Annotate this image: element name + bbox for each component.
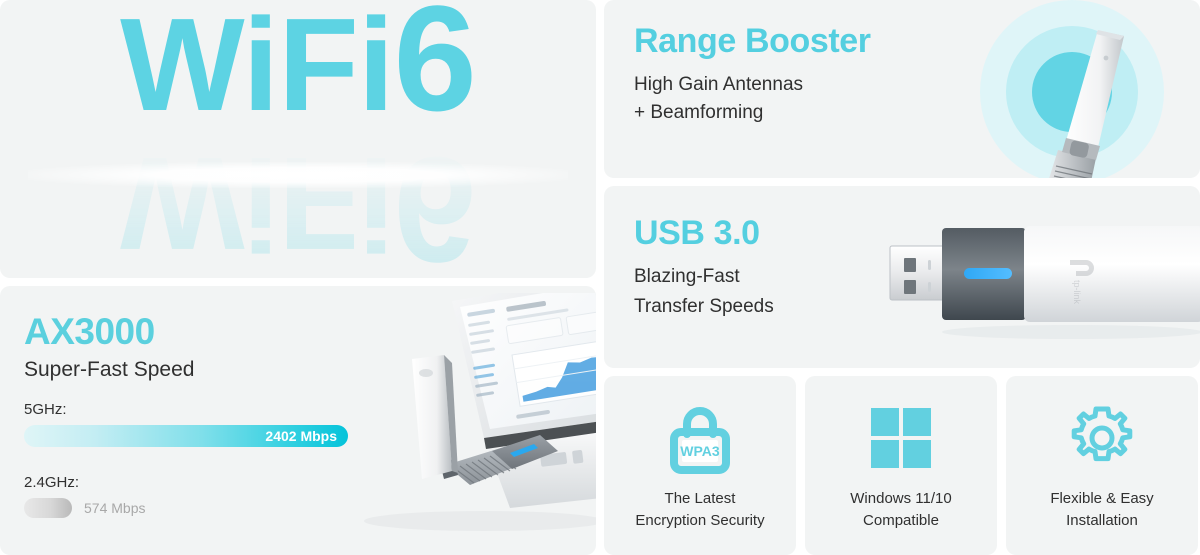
band-label-24ghz: 2.4GHz:	[24, 474, 354, 491]
feature-card-encryption: WPA3 The Latest Encryption Security	[604, 376, 796, 555]
usb-title: USB 3.0	[634, 214, 760, 253]
speed-band-24ghz: 2.4GHz: 574 Mbps	[24, 474, 354, 518]
feature-card-installation: Flexible & Easy Installation	[1006, 376, 1198, 555]
svg-text:tp-link: tp-link	[1072, 280, 1082, 305]
usb-line2: Transfer Speeds	[634, 296, 774, 318]
ax3000-title: AX3000	[24, 311, 155, 353]
adapter-white-body: tp-link	[1024, 226, 1200, 322]
encryption-line2: Encryption Security	[635, 510, 764, 531]
status-led	[964, 268, 1012, 279]
adapter-dark-body	[942, 228, 1026, 320]
panel-ax3000-speed: AX3000 Super-Fast Speed 5GHz: 2402 Mbps …	[0, 286, 596, 555]
laptop-with-adapter-illustration	[334, 293, 596, 555]
laptop-screen	[452, 293, 596, 438]
bar-value-5ghz: 2402 Mbps	[265, 425, 337, 447]
wpa3-badge-text: WPA3	[680, 443, 720, 459]
panel-range-booster: Range Booster High Gain Antennas + Beamf…	[604, 0, 1200, 178]
panel-usb3: USB 3.0 Blazing-Fast Transfer Speeds	[604, 186, 1200, 368]
speed-band-5ghz: 5GHz: 2402 Mbps	[24, 401, 354, 447]
feature-card-installation-text: Flexible & Easy Installation	[1050, 488, 1153, 531]
usb-line1: Blazing-Fast	[634, 266, 740, 288]
wifi6-logo-block: WiFi6 WiFi6	[0, 0, 596, 278]
feature-card-encryption-text: The Latest Encryption Security	[635, 488, 764, 531]
wifi6-logo: WiFi6	[120, 0, 476, 133]
feature-card-windows-text: Windows 11/10 Compatible	[850, 488, 951, 531]
product-feature-graphic: WiFi6 WiFi6 AX3000 Super-Fast Speed 5GHz…	[0, 0, 1200, 555]
gear-icon	[1067, 400, 1137, 476]
wifi6-logo-number: 6	[393, 0, 475, 142]
panel-wifi6: WiFi6 WiFi6	[0, 0, 596, 278]
windows-line1: Windows 11/10	[850, 488, 951, 509]
encryption-line1: The Latest	[635, 488, 764, 509]
bar-track-24ghz: 574 Mbps	[24, 498, 354, 518]
installation-line1: Flexible & Easy	[1050, 488, 1153, 509]
wifi6-logo-reflection: WiFi6	[120, 135, 476, 278]
wifi6-reflection-number: 6	[393, 126, 475, 278]
wpa3-lock-icon: WPA3	[665, 400, 735, 476]
bar-track-5ghz: 2402 Mbps	[24, 425, 354, 447]
range-booster-illustration	[920, 0, 1200, 178]
wifi6-logo-word: WiFi	[120, 0, 393, 138]
usb-connector	[890, 246, 948, 300]
feature-card-windows: Windows 11/10 Compatible	[805, 376, 997, 555]
windows-logo-icon	[869, 400, 933, 476]
adapter-antenna	[412, 355, 458, 479]
ax3000-subtitle: Super-Fast Speed	[24, 358, 194, 382]
wifi6-reflection-word: WiFi	[120, 130, 393, 277]
installation-line2: Installation	[1050, 510, 1153, 531]
windows-line2: Compatible	[850, 510, 951, 531]
range-booster-title: Range Booster	[634, 22, 871, 61]
usb-adapter-illustration: tp-link	[882, 204, 1200, 354]
band-label-5ghz: 5GHz:	[24, 401, 354, 418]
range-booster-line2: + Beamforming	[634, 102, 763, 124]
range-booster-line1: High Gain Antennas	[634, 74, 803, 96]
bar-fill-24ghz	[24, 498, 72, 518]
bar-fill-5ghz: 2402 Mbps	[24, 425, 348, 447]
bar-value-24ghz: 574 Mbps	[84, 500, 145, 516]
